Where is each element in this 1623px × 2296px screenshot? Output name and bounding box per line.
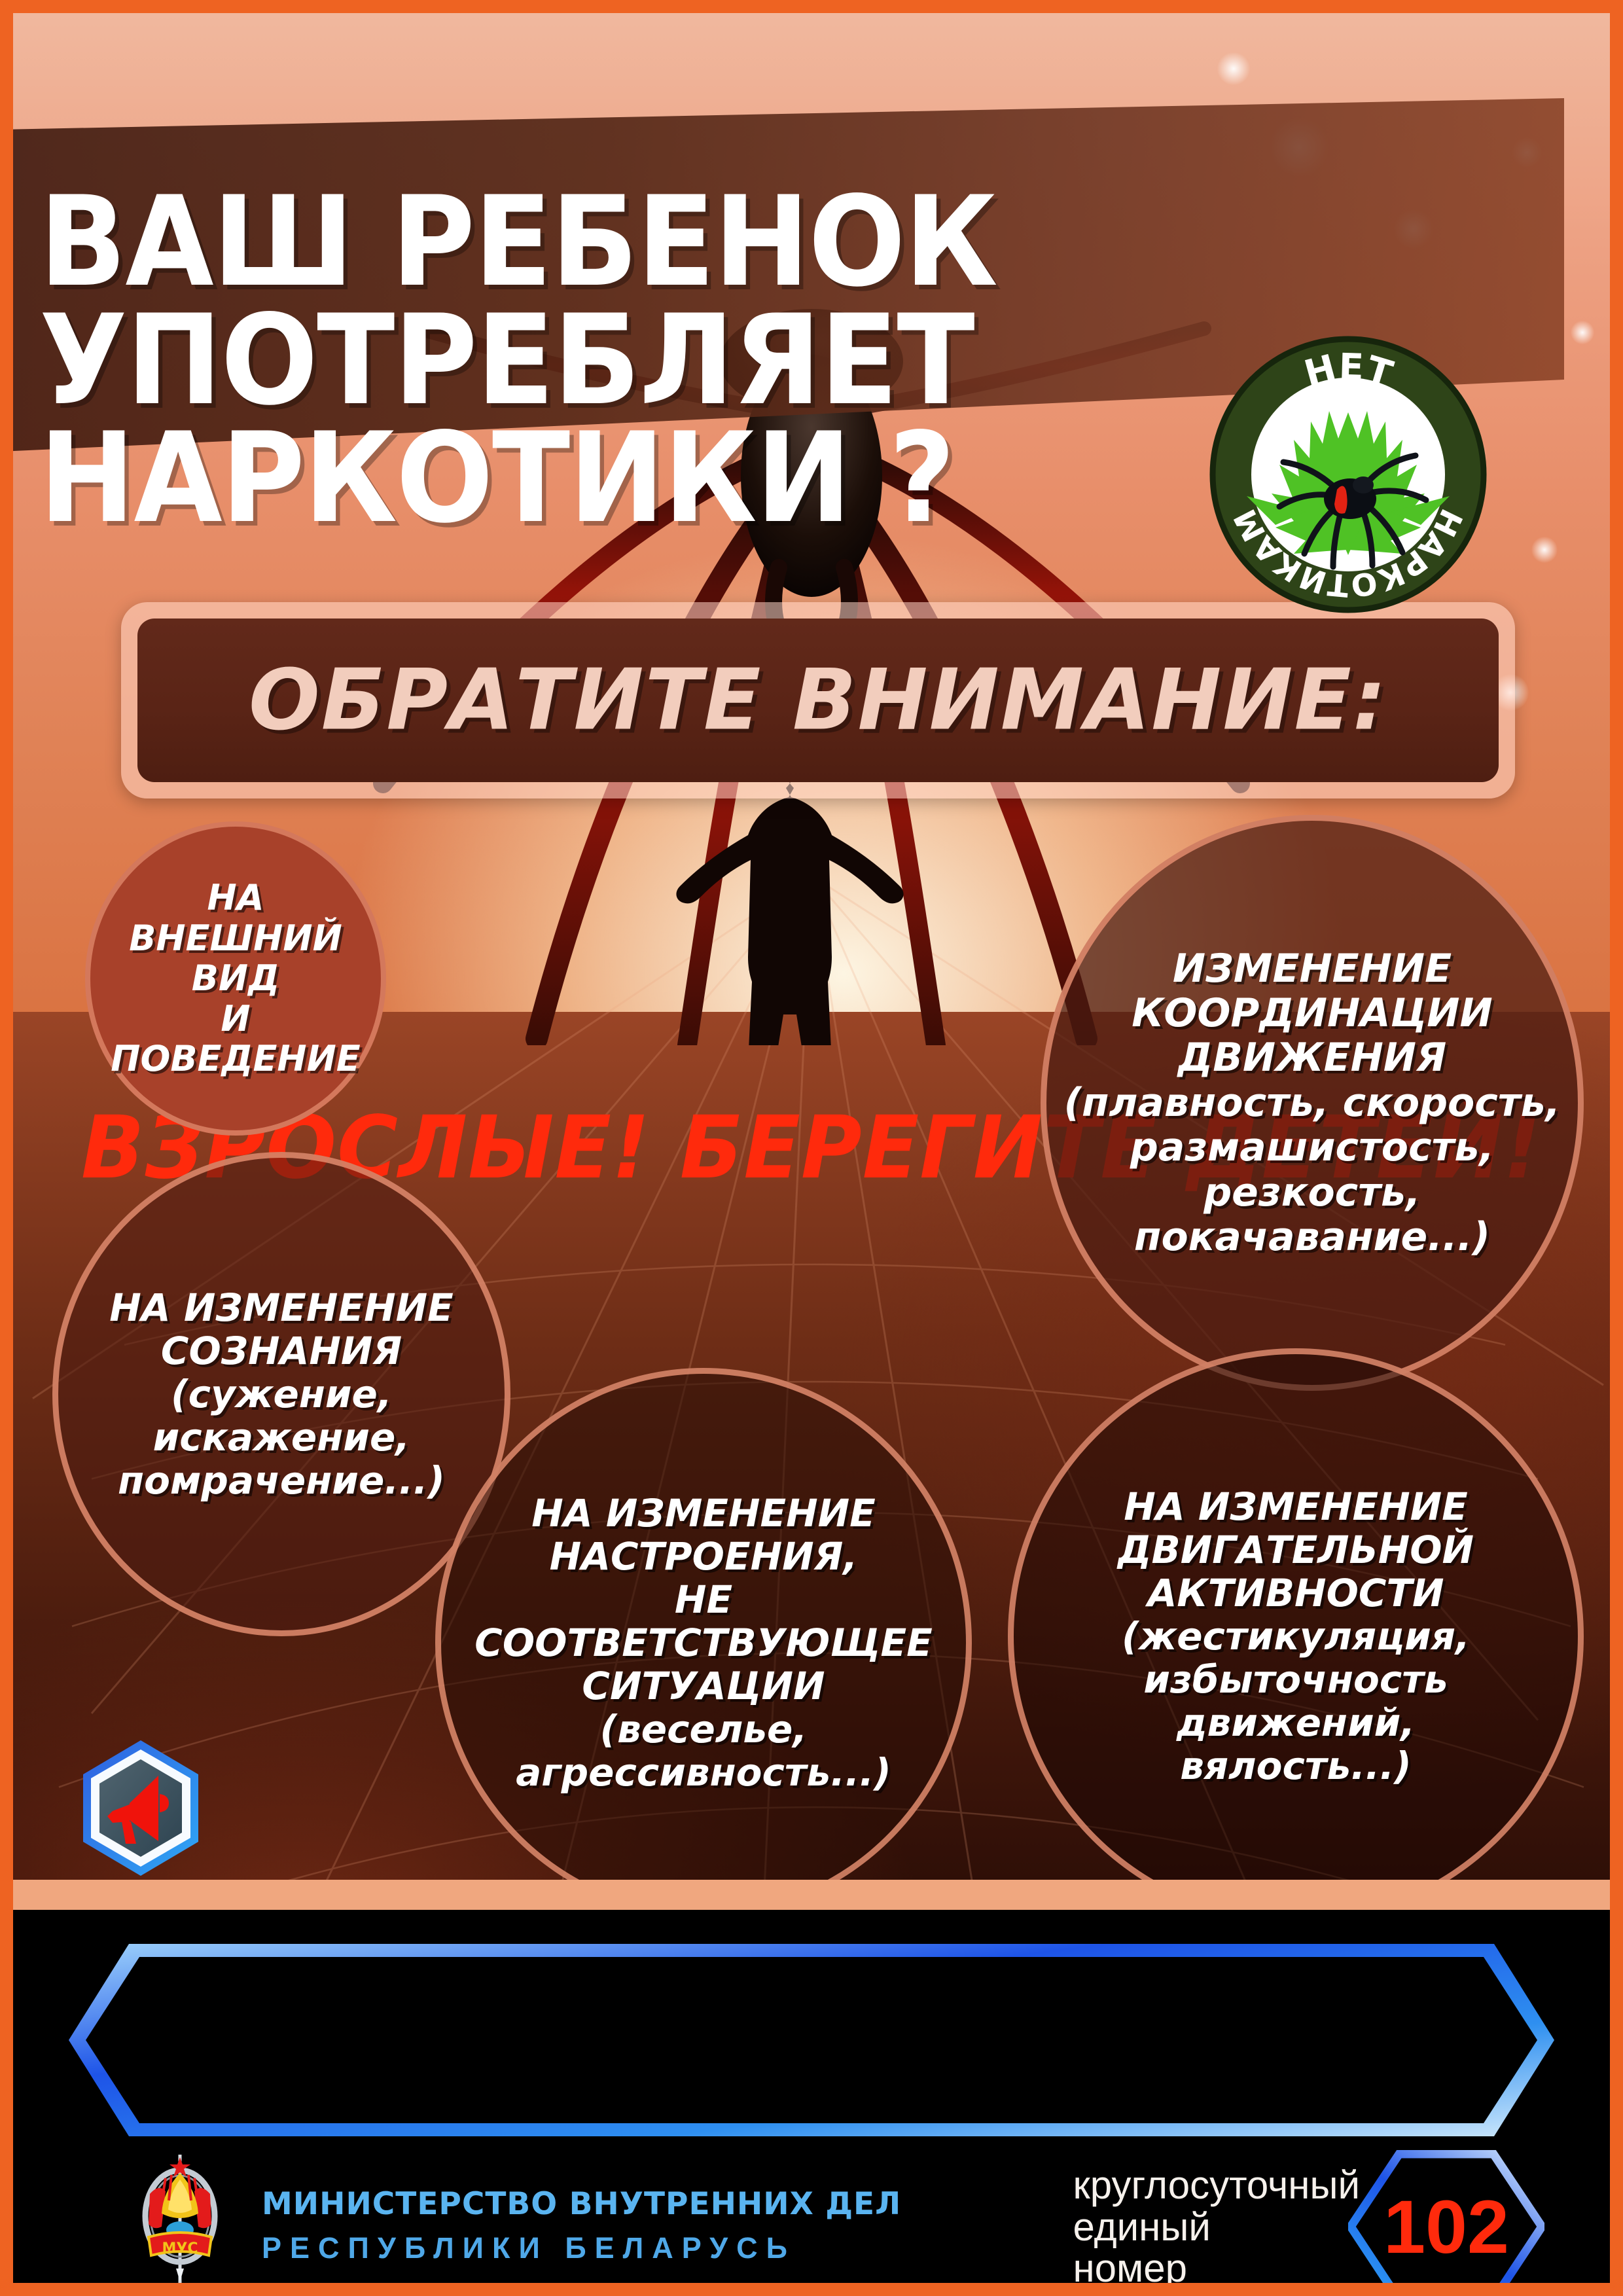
ministry-line-2: РЕСПУБЛИКИ БЕЛАРУСЬ: [262, 2231, 901, 2265]
badge-top-label: НЕТ: [1300, 346, 1397, 397]
hotline-number-badge[interactable]: 102: [1348, 2150, 1544, 2296]
megaphone-hex-badge: [79, 1738, 203, 1878]
ministry-name: МИНИСТЕРСТВО ВНУТРЕННИХ ДЕЛ РЕСПУБЛИКИ Б…: [262, 2186, 901, 2265]
mvd-emblem-label: МУС: [162, 2240, 198, 2257]
mvd-emblem: МУС: [134, 2153, 226, 2287]
bokeh-spark: [1217, 52, 1250, 85]
no-drugs-badge: НЕТ НАРКОТИКАМ: [1207, 334, 1489, 615]
bokeh-spark: [1571, 321, 1594, 344]
attention-banner-label: ОБРАТИТЕ ВНИМАНИЕ:: [137, 652, 1499, 749]
hotline-label: круглосуточный единый номер: [1073, 2164, 1360, 2289]
bubble-motor-activity: НА ИЗМЕНЕНИЕ ДВИГАТЕЛЬНОЙ АКТИВНОСТИ (же…: [1008, 1348, 1584, 1924]
ministry-line-1: МИНИСТЕРСТВО ВНУТРЕННИХ ДЕЛ: [262, 2186, 901, 2222]
hotline-number: 102: [1348, 2150, 1544, 2296]
bubble-consciousness-text: НА ИЗМЕНЕНИЕ СОЗНАНИЯ (сужение, искажени…: [58, 1286, 505, 1503]
bubble-appearance-text: НА ВНЕШНИЙ ВИД И ПОВЕДЕНИЕ: [90, 878, 381, 1079]
peach-divider-bar: [13, 1880, 1610, 1910]
bokeh-spark: [1531, 537, 1558, 563]
bubble-mood: НА ИЗМЕНЕНИЕ НАСТРОЕНИЯ, НЕ СООТВЕТСТВУЮ…: [435, 1368, 972, 1918]
attention-banner-inner: ОБРАТИТЕ ВНИМАНИЕ:: [137, 619, 1499, 782]
hotline-block: круглосуточный единый номер 102: [1073, 2150, 1544, 2296]
poster-root: ВАШ РЕБЕНОК УПОТРЕБЛЯЕТ НАРКОТИКИ ?: [0, 0, 1623, 2296]
bubble-mood-text: НА ИЗМЕНЕНИЕ НАСТРОЕНИЯ, НЕ СООТВЕТСТВУЮ…: [441, 1492, 966, 1795]
bubble-motor-activity-text: НА ИЗМЕНЕНИЕ ДВИГАТЕЛЬНОЙ АКТИВНОСТИ (же…: [1014, 1485, 1578, 1788]
bubble-coordination-text: ИЗМЕНЕНИЕ КООРДИНАЦИИ ДВИЖЕНИЯ (плавност…: [1046, 946, 1578, 1260]
bubble-coordination: ИЗМЕНЕНИЕ КООРДИНАЦИИ ДВИЖЕНИЯ (плавност…: [1041, 815, 1584, 1391]
attention-banner: ОБРАТИТЕ ВНИМАНИЕ:: [121, 602, 1515, 798]
call-to-action-banner: [69, 1939, 1554, 2142]
bubble-appearance: НА ВНЕШНИЙ ВИД И ПОВЕДЕНИЕ: [85, 821, 386, 1136]
